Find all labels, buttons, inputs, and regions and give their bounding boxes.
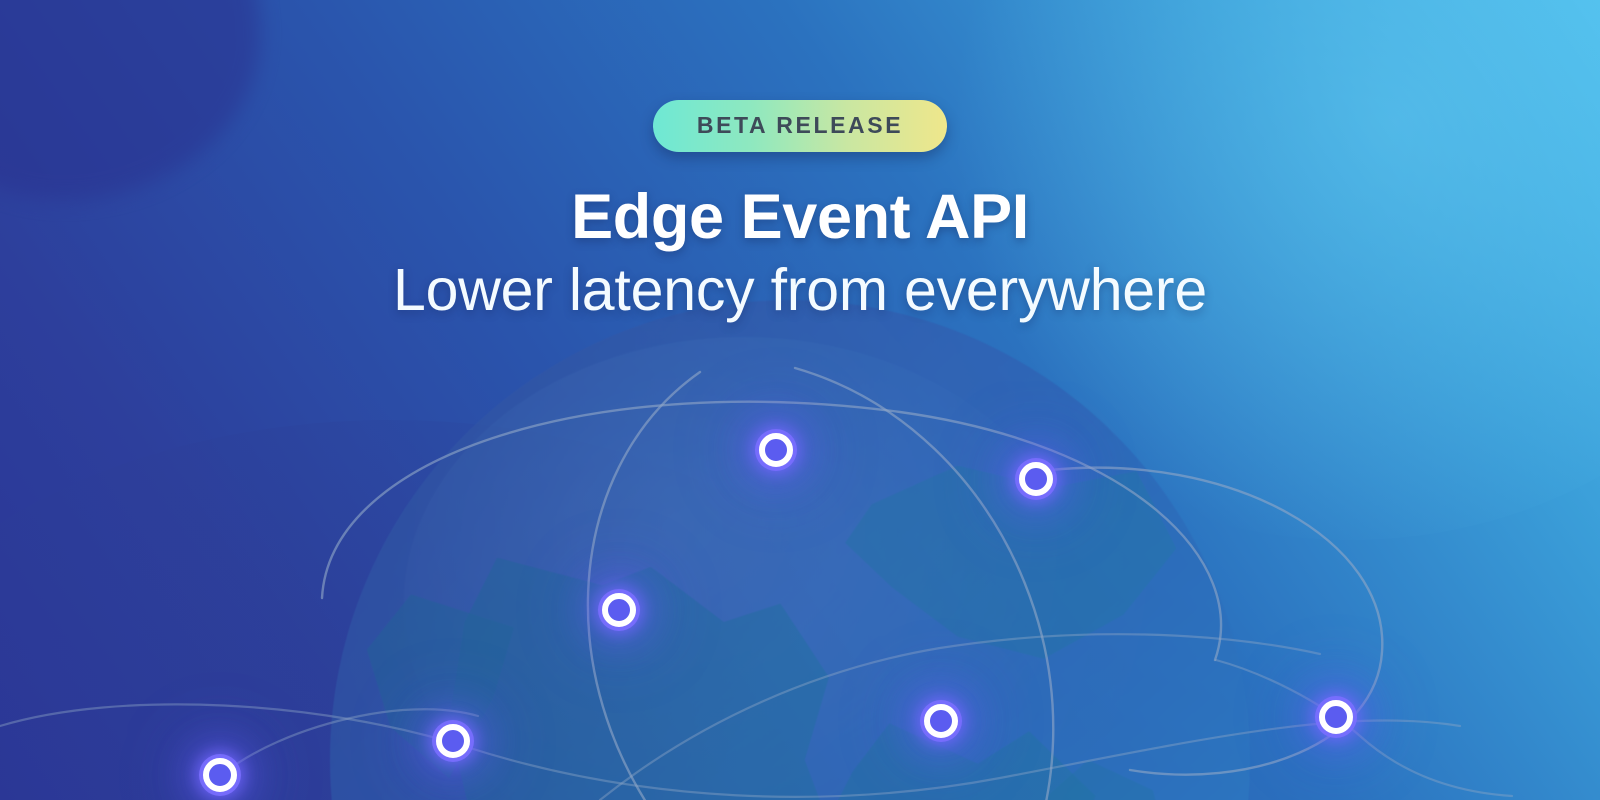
page-title: Edge Event API [0, 185, 1600, 251]
edge-node-6[interactable] [1319, 700, 1353, 734]
globe-shading [330, 300, 1250, 800]
globe-illustration [330, 300, 1250, 800]
page-subtitle: Lower latency from everywhere [0, 259, 1600, 322]
hero-banner: BETA RELEASE Edge Event API Lower latenc… [0, 0, 1600, 800]
edge-node-4[interactable] [436, 724, 470, 758]
globe-sphere [330, 300, 1250, 800]
edge-node-7[interactable] [203, 758, 237, 792]
edge-node-3[interactable] [602, 593, 636, 627]
edge-node-2[interactable] [1019, 462, 1053, 496]
edge-node-5[interactable] [924, 704, 958, 738]
edge-node-1[interactable] [759, 433, 793, 467]
hero-content: BETA RELEASE Edge Event API Lower latenc… [0, 0, 1600, 321]
status-badge: BETA RELEASE [653, 100, 947, 152]
